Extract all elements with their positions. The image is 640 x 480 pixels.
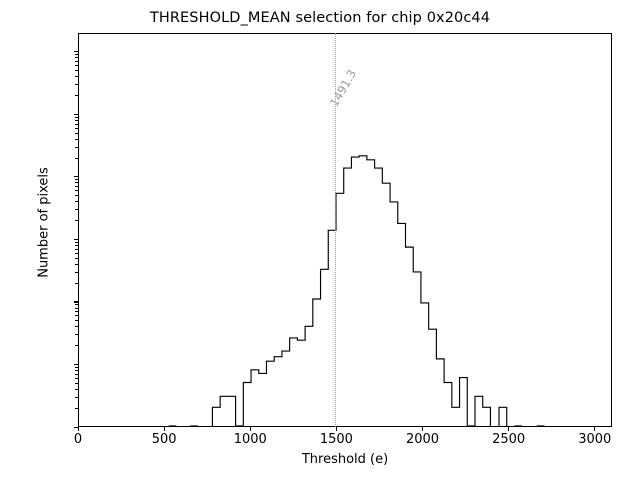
x-axis-label: Threshold (e) (78, 452, 612, 467)
histogram-step-path (169, 156, 545, 426)
x-tick-label: 1500 (320, 432, 353, 447)
x-tick-mark (250, 427, 251, 432)
page-title: THRESHOLD_MEAN selection for chip 0x20c4… (0, 10, 640, 26)
x-tick-label: 0 (74, 432, 82, 447)
x-tick-mark (336, 427, 337, 432)
x-tick-label: 2000 (406, 432, 439, 447)
x-tick-mark (594, 427, 595, 432)
x-tick-label: 1000 (234, 432, 267, 447)
x-tick-mark (422, 427, 423, 432)
matplotlib-figure: THRESHOLD_MEAN selection for chip 0x20c4… (0, 0, 640, 480)
x-tick-label: 3000 (578, 432, 611, 447)
x-tick-mark (78, 427, 79, 432)
y-axis-label: Number of pixels (37, 93, 52, 353)
x-tick-mark (164, 427, 165, 432)
x-tick-mark (508, 427, 509, 432)
x-tick-label: 500 (152, 432, 177, 447)
x-tick-label: 2500 (492, 432, 525, 447)
